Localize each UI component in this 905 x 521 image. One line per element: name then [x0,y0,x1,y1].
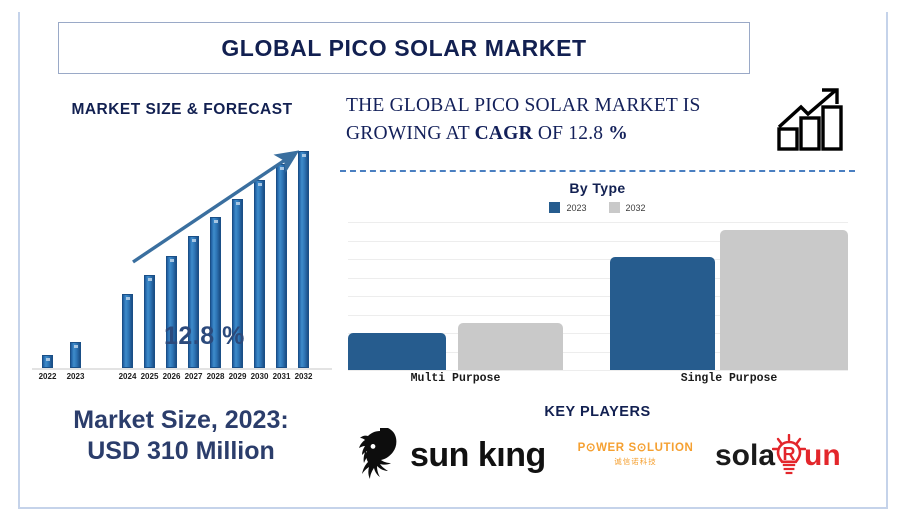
logo-power-solution: P⊙WER S⊙LUTION 诚信诺科技 [568,440,703,467]
forecast-bar-cap [258,183,262,186]
logo-sun-king: sun kıng [350,428,546,482]
solarun-wordmark-black: sola [715,439,775,473]
legend-item: 2023 [549,202,586,213]
forecast-bar-cap [148,278,152,281]
market-size-forecast-heading: MARKET SIZE & FORECAST [57,101,307,119]
legend-swatch [609,202,620,213]
solarun-wordmark-red: un [804,439,841,473]
forecast-bar-cap [302,154,306,157]
title-box: GLOBAL PICO SOLAR MARKET [58,22,750,74]
page-title: GLOBAL PICO SOLAR MARKET [221,35,586,62]
logo-solarun: sola R un [715,434,841,478]
frame-border-left [18,12,20,509]
solarun-letter-r: R [783,444,796,464]
forecast-bar-cap [236,202,240,205]
grid-line [348,222,848,223]
market-size-line-1: Market Size, 2023: [36,405,326,436]
by-type-bar [610,257,715,370]
legend-item: 2032 [609,202,646,213]
frame-border-bottom [18,507,888,509]
by-type-x-labels: Multi PurposeSingle Purpose [348,372,848,390]
forecast-bar-cap [192,239,196,242]
lightbulb-icon: R [772,434,806,478]
forecast-bar-cap [170,259,174,262]
forecast-bar [70,342,81,368]
forecast-x-label: 2023 [63,372,89,381]
forecast-bar [166,256,177,368]
forecast-bar-cap [46,358,50,361]
forecast-bar-cap [126,297,130,300]
by-type-bar [348,333,446,370]
headline-part-2: OF 12.8 [533,123,608,144]
by-type-x-label: Multi Purpose [308,372,603,385]
legend-label: 2032 [626,203,646,213]
forecast-bar [254,180,265,368]
forecast-bar-chart: 2022202320242025202620272028202920302031… [32,140,332,390]
by-type-title: By Type [340,180,855,196]
forecast-bar [298,151,309,368]
market-size-value: Market Size, 2023: USD 310 Million [36,405,326,468]
cagr-callout: 12.8 % [164,322,245,351]
key-players-logos: sun kıng P⊙WER S⊙LUTION 诚信诺科技 sola [340,424,860,486]
key-players-title: KEY PLAYERS [340,404,855,420]
forecast-x-labels: 2022202320242025202620272028202920302031… [32,372,332,388]
forecast-bar-cap [74,345,78,348]
by-type-legend: 20232032 [340,202,855,213]
legend-swatch [549,202,560,213]
forecast-bar-cap [214,220,218,223]
forecast-bar [276,164,287,368]
frame-border-right [886,12,888,509]
power-solution-subtext: 诚信诺科技 [568,456,703,467]
growth-chart-icon [775,85,853,151]
by-type-bar [458,323,563,370]
headline-text: THE GLOBAL PICO SOLAR MARKET IS GROWING … [346,92,756,149]
legend-label: 2023 [566,203,586,213]
headline-percent: % [608,123,628,144]
forecast-bar [144,275,155,368]
section-divider [340,170,855,172]
forecast-bar [122,294,133,368]
infographic-page: GLOBAL PICO SOLAR MARKET MARKET SIZE & F… [0,0,905,521]
by-type-bar [720,230,848,370]
power-solution-wordmark: P⊙WER S⊙LUTION [568,440,703,454]
forecast-bar [42,355,53,368]
by-type-bar-chart [348,222,848,370]
forecast-bar-cap [280,167,284,170]
forecast-x-label: 2022 [35,372,61,381]
by-type-x-label: Single Purpose [570,372,888,385]
grid-line [348,370,848,371]
market-size-line-2: USD 310 Million [36,436,326,467]
sun-king-wordmark: sun kıng [410,436,546,475]
headline-cagr: CAGR [475,123,533,144]
lion-head-icon [350,428,408,482]
forecast-axis-line [32,368,332,370]
